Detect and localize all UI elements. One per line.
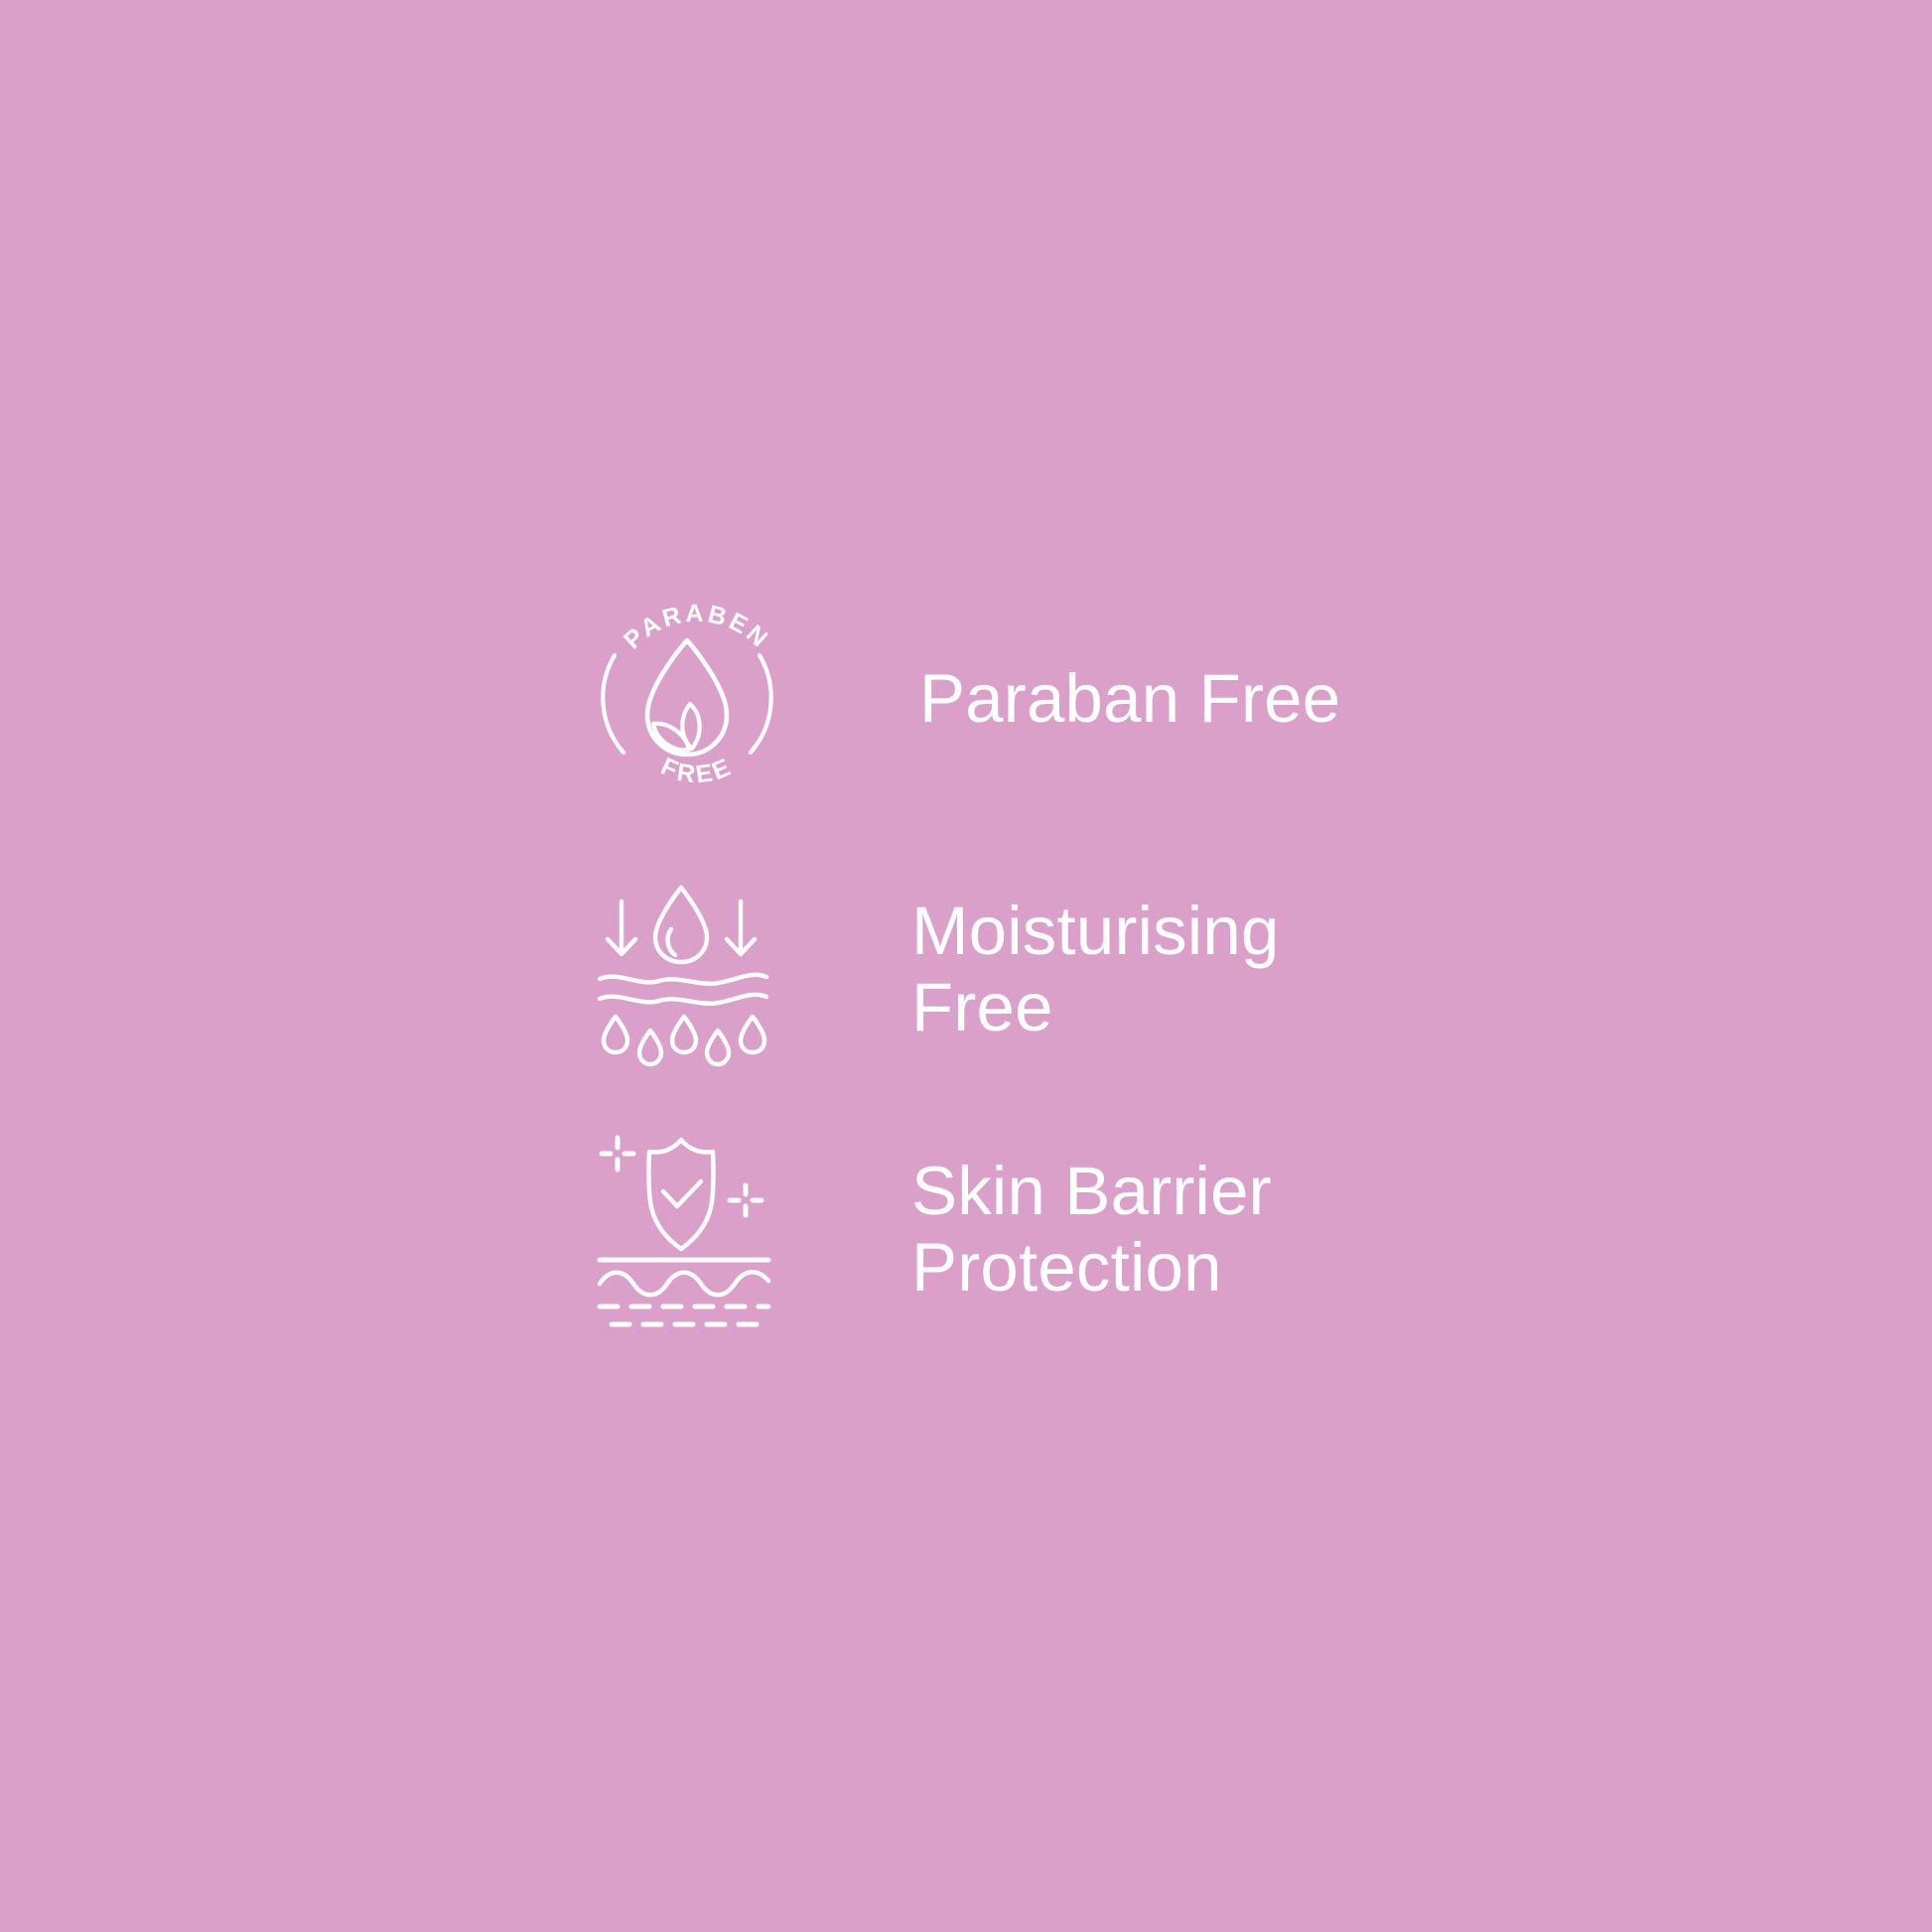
feature-row: Moisturising Free [596,872,1280,1066]
shield-skin-barrier-icon [596,1130,790,1328]
skin-wave-line [600,995,766,1004]
feature-label: Skin Barrier Protection [911,1153,1272,1306]
droplet-outline [655,888,707,962]
svg-text:PARABEN: PARABEN [619,600,775,654]
arrow-down-left-icon [608,901,635,954]
feature-label: Paraban Free [919,660,1340,737]
sparkle-icon [602,1138,633,1170]
skin-wave-line [600,975,766,984]
sparkle-icon [730,1185,761,1215]
badge-text-bottom: FREE [657,753,738,789]
feature-label: Moisturising Free [911,893,1280,1045]
moisturising-droplet-skin-icon [596,872,790,1066]
svg-text:FREE: FREE [657,753,738,789]
shield-outline [649,1140,714,1249]
skin-wave-line [600,1272,768,1295]
droplet-highlight [668,929,675,955]
arrow-down-right-icon [727,901,755,954]
small-droplets-group [604,1017,764,1064]
feature-row: PARABEN FREE Paraban Free [596,594,1340,802]
paraben-free-badge-icon: PARABEN FREE [596,594,790,802]
feature-row: Skin Barrier Protection [596,1130,1272,1328]
badge-text-top: PARABEN [619,600,775,654]
check-icon [663,1181,701,1206]
feature-list: PARABEN FREE Paraban Free [0,0,1932,1932]
